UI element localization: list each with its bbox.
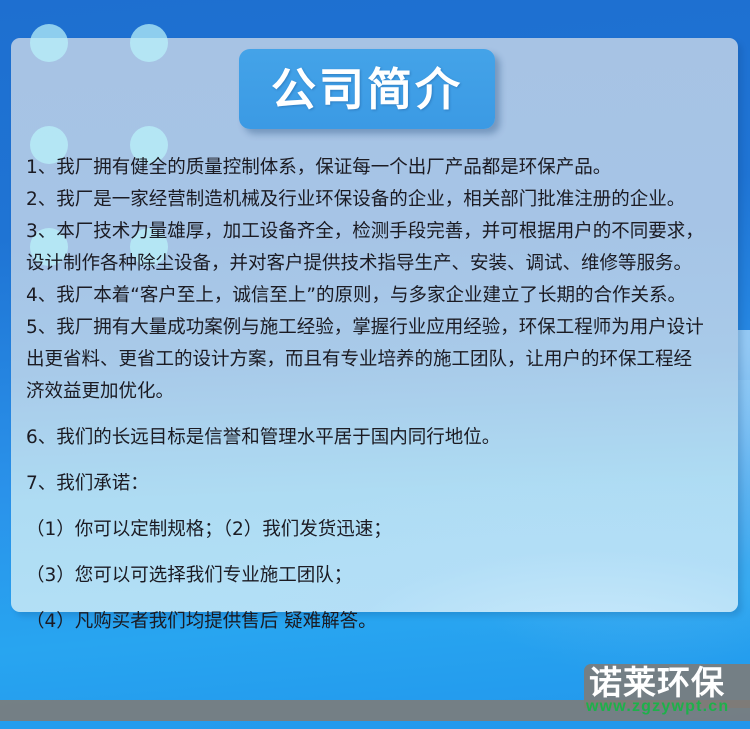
profile-line: 1、我厂拥有健全的质量控制体系，保证每一个出厂产品都是环保产品。 (26, 152, 726, 184)
profile-line: 4、我厂本着“客户至上，诚信至上”的原则，与多家企业建立了长期的合作关系。 (26, 280, 726, 312)
text-gap (26, 454, 726, 468)
poster-root: 公司简介 1、我厂拥有健全的质量控制体系，保证每一个出厂产品都是环保产品。2、我… (0, 0, 750, 729)
profile-line: （1）你可以定制规格；（2）我们发货迅速； (26, 514, 726, 546)
title-banner: 公司简介 (239, 49, 495, 129)
text-gap (26, 500, 726, 514)
profile-line: 2、我厂是一家经营制造机械及行业环保设备的企业，相关部门批准注册的企业。 (26, 184, 726, 216)
profile-line: 3、本厂技术力量雄厚，加工设备齐全，检测手段完善，并可根据用户的不同要求， (26, 216, 726, 248)
profile-line: 出更省料、更省工的设计方案，而且有专业培养的施工团队，让用户的环保工程经 (26, 344, 726, 376)
profile-line: 济效益更加优化。 (26, 376, 726, 408)
profile-line: （3）您可以可选择我们专业施工团队； (26, 560, 726, 592)
profile-line: 5、我厂拥有大量成功案例与施工经验，掌握行业应用经验，环保工程师为用户设计 (26, 312, 726, 344)
text-gap (26, 546, 726, 560)
profile-line: （4）凡购买者我们均提供售后 疑难解答。 (26, 606, 726, 638)
profile-line: 7、我们承诺： (26, 468, 726, 500)
profile-line: 6、我们的长远目标是信誉和管理水平居于国内同行地位。 (26, 422, 726, 454)
page-title: 公司简介 (271, 67, 463, 112)
watermark-brand-name: 诺莱环保 (589, 666, 725, 699)
profile-line: 设计制作各种除尘设备，并对客户提供技术指导生产、安装、调试、维修等服务。 (26, 248, 726, 280)
text-gap (26, 408, 726, 422)
text-gap (26, 592, 726, 606)
company-profile-text: 1、我厂拥有健全的质量控制体系，保证每一个出厂产品都是环保产品。2、我厂是一家经… (26, 152, 726, 638)
watermark-url: www.zgzywpt.cn (586, 699, 729, 715)
